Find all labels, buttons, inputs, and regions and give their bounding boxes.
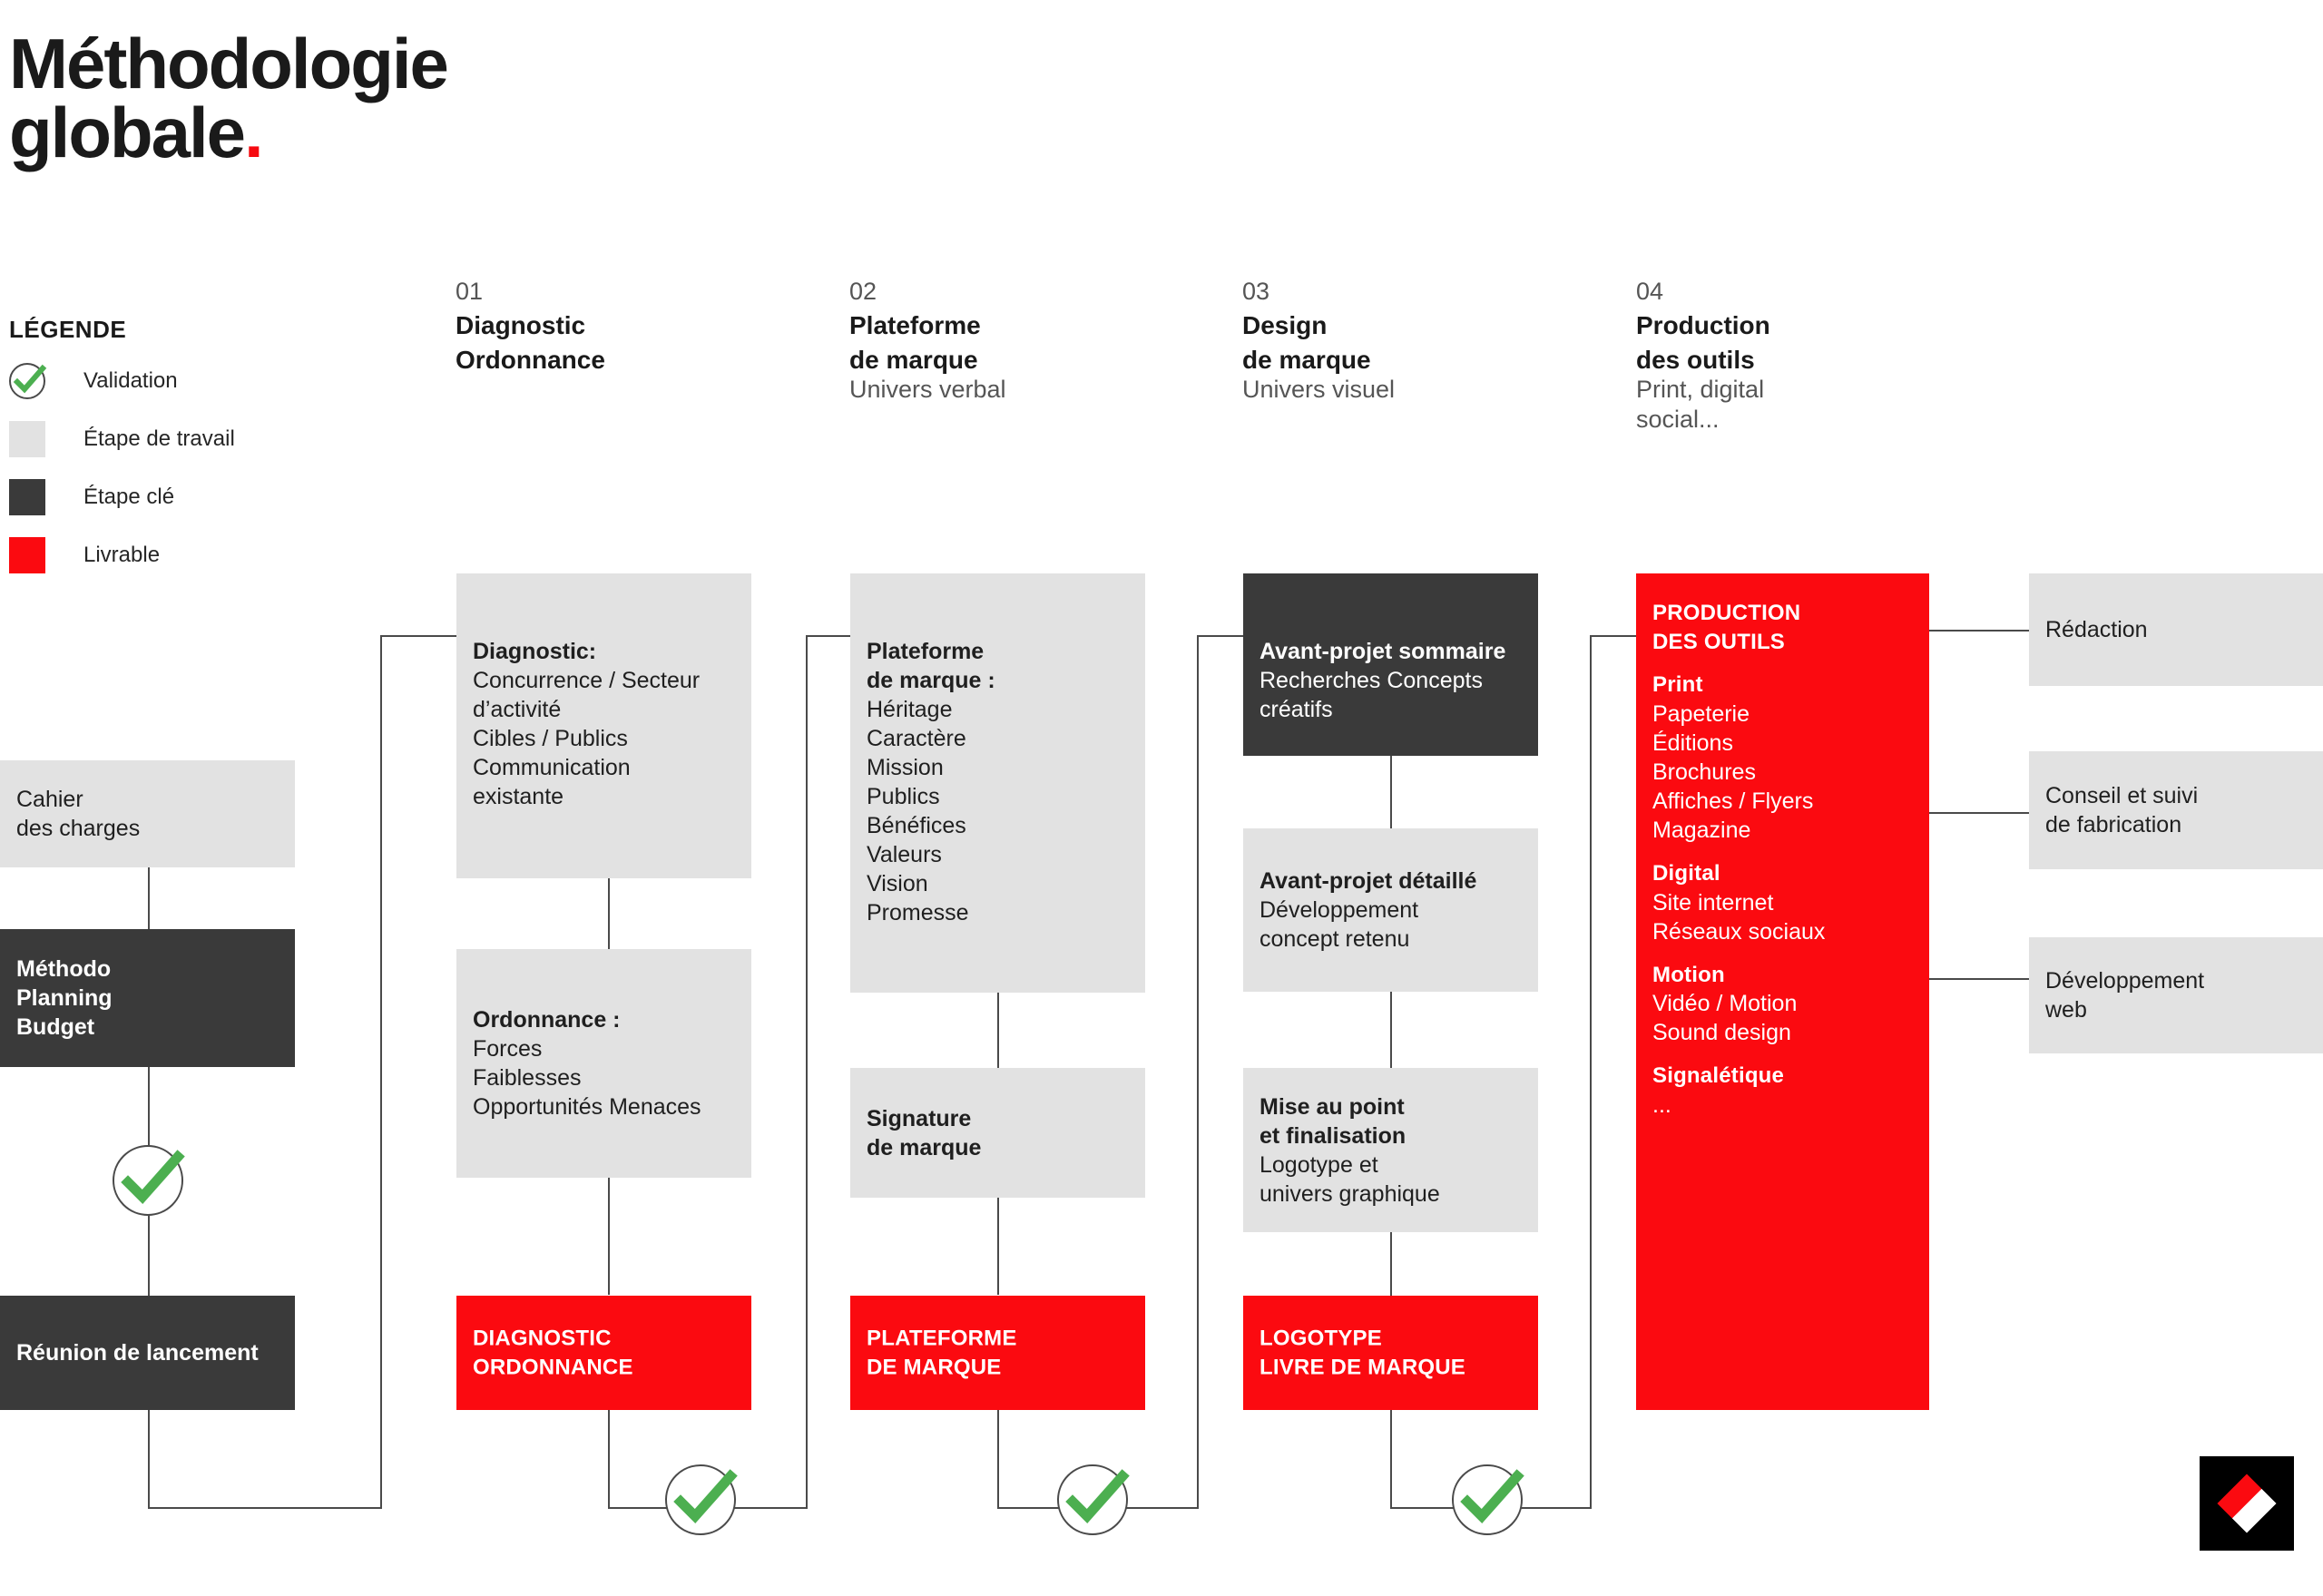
plateforme-line-1: Héritage <box>867 695 1129 724</box>
deliverable-col1-line-1: DIAGNOSTIC <box>473 1324 735 1353</box>
detaille-title: Avant-projet détaillé <box>1260 867 1522 896</box>
validation-check-icon-col1 <box>665 1464 736 1535</box>
ordonnance-line-3: Opportunités Menaces <box>473 1092 735 1121</box>
validation-check-icon-col2 <box>1057 1464 1128 1535</box>
signaletique-item-1: ... <box>1652 1091 1913 1120</box>
column-title-02-line1: Plateforme <box>849 310 1158 341</box>
plateforme-line-7: Vision <box>867 869 1129 898</box>
print-item-1: Papeterie <box>1652 700 1913 729</box>
box-signature-de-marque: Signature de marque <box>850 1068 1145 1198</box>
plateforme-line-6: Valeurs <box>867 840 1129 869</box>
digital-item-1: Site internet <box>1652 888 1913 917</box>
ordonnance-line-1: Forces <box>473 1034 735 1063</box>
finalisation-line-1: Logotype et <box>1260 1150 1522 1180</box>
production-group-print: Print Papeterie Éditions Brochures Affic… <box>1652 671 1913 845</box>
deliverable-col2-line-1: PLATEFORME <box>867 1324 1129 1353</box>
developpement-line-2: web <box>2045 995 2308 1024</box>
box-avant-projet-sommaire: Avant-projet sommaire Recherches Concept… <box>1243 573 1538 756</box>
deliverable-col1-line-2: ORDONNANCE <box>473 1353 735 1382</box>
column-header-02: 02 Plateforme de marque Univers verbal <box>849 277 1158 405</box>
cahier-line-1: Cahier <box>16 785 279 814</box>
production-group-motion: Motion Vidéo / Motion Sound design <box>1652 961 1913 1048</box>
finalisation-title-line-2: et finalisation <box>1260 1121 1522 1150</box>
brand-logo <box>2200 1456 2294 1551</box>
print-item-4: Affiches / Flyers <box>1652 787 1913 816</box>
column-title-04-line1: Production <box>1636 310 1945 341</box>
developpement-line-1: Développement <box>2045 966 2308 995</box>
motion-item-1: Vidéo / Motion <box>1652 989 1913 1018</box>
legend-item-key-step: Étape clé <box>9 476 309 518</box>
legend-item-work-step: Étape de travail <box>9 418 309 460</box>
box-production-des-outils: PRODUCTION DES OUTILS Print Papeterie Éd… <box>1636 573 1929 1410</box>
column-subtitle-04-line2: social... <box>1636 405 1945 434</box>
box-ordonnance: Ordonnance : Forces Faiblesses Opportuni… <box>456 949 751 1178</box>
finalisation-line-2: univers graphique <box>1260 1180 1522 1209</box>
legend-item-deliverable: Livrable <box>9 534 309 576</box>
column-title-03-line2: de marque <box>1242 345 1551 376</box>
column-header-03: 03 Design de marque Univers visuel <box>1242 277 1551 405</box>
motion-item-2: Sound design <box>1652 1018 1913 1047</box>
diagnostic-line-4: Communication <box>473 753 735 782</box>
box-deliverable-diagnostic-ordonnance: DIAGNOSTIC ORDONNANCE <box>456 1296 751 1410</box>
connector-signature-to-deliverable <box>997 1198 999 1295</box>
production-heading-motion: Motion <box>1652 961 1913 990</box>
box-mise-au-point-et-finalisation: Mise au point et finalisation Logotype e… <box>1243 1068 1538 1232</box>
connector-finalisation-to-deliverable <box>1390 1232 1392 1296</box>
box-developpement-web: Développement web <box>2029 937 2323 1053</box>
title-accent-dot: . <box>244 93 262 172</box>
plateforme-title-line-1: Plateforme <box>867 637 1129 666</box>
box-methodo-planning-budget: Méthodo Planning Budget <box>0 929 295 1067</box>
connector-plateforme-to-signature <box>997 992 999 1068</box>
connector-production-to-conseil <box>1929 812 2029 814</box>
legend: LÉGENDE Validation Étape de travail Étap… <box>9 316 309 576</box>
box-diagnostic: Diagnostic: Concurrence / Secteur d’acti… <box>456 573 751 878</box>
work-step-swatch <box>9 421 45 457</box>
digital-item-2: Réseaux sociaux <box>1652 917 1913 946</box>
plateforme-line-2: Caractère <box>867 724 1129 753</box>
sommaire-line-1: Recherches Concepts <box>1260 666 1522 695</box>
reunion-line-1: Réunion de lancement <box>16 1338 279 1367</box>
production-title-line-2: DES OUTILS <box>1652 628 1913 657</box>
title-line-2: globale <box>9 93 244 172</box>
diagnostic-line-2: d’activité <box>473 695 735 724</box>
box-deliverable-logotype-livre-de-marque: LOGOTYPE LIVRE DE MARQUE <box>1243 1296 1538 1410</box>
column-number-04: 04 <box>1636 277 1945 307</box>
validation-check-icon-col3 <box>1452 1464 1523 1535</box>
box-deliverable-plateforme-de-marque: PLATEFORME DE MARQUE <box>850 1296 1145 1410</box>
connector-col1-riser <box>806 635 808 1508</box>
signature-line-1: Signature <box>867 1104 1129 1133</box>
diagnostic-line-3: Cibles / Publics <box>473 724 735 753</box>
plateforme-line-3: Mission <box>867 753 1129 782</box>
column-title-02-line2: de marque <box>849 345 1158 376</box>
legend-label-key-step: Étape clé <box>83 485 174 510</box>
column-header-04: 04 Production des outils Print, digital … <box>1636 277 1945 434</box>
conseil-line-2: de fabrication <box>2045 810 2308 839</box>
connector-production-to-developpement <box>1929 978 2029 980</box>
connector-col3-riser <box>1590 635 1592 1508</box>
plateforme-line-4: Publics <box>867 782 1129 811</box>
methodo-line-2: Planning <box>16 984 279 1013</box>
connector-detaille-to-finalisation <box>1390 992 1392 1068</box>
connector-col3-to-col4 <box>1590 635 1637 637</box>
production-title-line-1: PRODUCTION <box>1652 599 1913 628</box>
connector-col1-down <box>608 1409 610 1509</box>
box-conseil-et-suivi-de-fabrication: Conseil et suivi de fabrication <box>2029 751 2323 869</box>
column-title-01-line1: Diagnostic <box>456 310 764 341</box>
finalisation-title-line-1: Mise au point <box>1260 1092 1522 1121</box>
connector-diagnostic-to-ordonnance <box>608 877 610 950</box>
connector-col3-down <box>1390 1409 1392 1509</box>
ordonnance-line-2: Faiblesses <box>473 1063 735 1092</box>
plateforme-line-8: Promesse <box>867 898 1129 927</box>
column-number-01: 01 <box>456 277 764 307</box>
redaction-line-1: Rédaction <box>2045 615 2308 644</box>
box-plateforme-de-marque: Plateforme de marque : Héritage Caractèr… <box>850 573 1145 993</box>
production-heading-print: Print <box>1652 671 1913 700</box>
connector-ordonnance-to-deliverable <box>608 1177 610 1295</box>
connector-col2-riser <box>1197 635 1199 1508</box>
connector-methodo-to-check <box>148 1066 150 1152</box>
detaille-line-1: Développement <box>1260 896 1522 925</box>
deliverable-swatch <box>9 537 45 573</box>
connector-col2-to-col3 <box>1197 635 1244 637</box>
ordonnance-title: Ordonnance : <box>473 1005 735 1034</box>
production-group-signaletique: Signalétique ... <box>1652 1062 1913 1120</box>
diagnostic-line-1: Concurrence / Secteur <box>473 666 735 695</box>
column-number-03: 03 <box>1242 277 1551 307</box>
production-group-digital: Digital Site internet Réseaux sociaux <box>1652 859 1913 946</box>
title-line-1: Méthodologie <box>9 24 447 103</box>
legend-item-validation: Validation <box>9 360 309 402</box>
plateforme-title-line-2: de marque : <box>867 666 1129 695</box>
check-circle-icon <box>9 363 45 399</box>
methodology-diagram: Méthodologie globale. LÉGENDE Validation… <box>0 0 2323 1596</box>
column-header-01: 01 Diagnostic Ordonnance <box>456 277 764 375</box>
print-item-2: Éditions <box>1652 729 1913 758</box>
sommaire-line-2: créatifs <box>1260 695 1522 724</box>
cahier-line-2: des charges <box>16 814 279 843</box>
legend-label-validation: Validation <box>83 368 178 394</box>
connector-col0-bottom-right <box>148 1507 382 1509</box>
deliverable-col3-line-2: LIVRE DE MARQUE <box>1260 1353 1522 1382</box>
validation-check-icon-col0 <box>113 1145 183 1216</box>
sommaire-title: Avant-projet sommaire <box>1260 637 1522 666</box>
connector-sommaire-to-detaille <box>1390 756 1392 828</box>
column-number-02: 02 <box>849 277 1158 307</box>
box-avant-projet-detaille: Avant-projet détaillé Développement conc… <box>1243 828 1538 992</box>
methodo-line-1: Méthodo <box>16 955 279 984</box>
legend-heading: LÉGENDE <box>9 316 309 344</box>
deliverable-col3-line-1: LOGOTYPE <box>1260 1324 1522 1353</box>
diamond-icon <box>2217 1474 2276 1532</box>
diagnostic-title: Diagnostic: <box>473 637 735 666</box>
connector-reunion-down <box>148 1409 150 1509</box>
box-reunion-de-lancement: Réunion de lancement <box>0 1296 295 1410</box>
deliverable-col2-line-2: DE MARQUE <box>867 1353 1129 1382</box>
column-title-01-line2: Ordonnance <box>456 345 764 376</box>
connector-col2-down <box>997 1409 999 1509</box>
page-title: Méthodologie globale. <box>9 29 447 168</box>
legend-label-work-step: Étape de travail <box>83 426 235 452</box>
column-subtitle-04-line1: Print, digital <box>1636 375 1945 404</box>
plateforme-line-5: Bénéfices <box>867 811 1129 840</box>
connector-col0-to-col1 <box>380 635 457 637</box>
key-step-swatch <box>9 479 45 515</box>
box-cahier-des-charges: Cahier des charges <box>0 760 295 867</box>
connector-col0-riser <box>380 635 382 1508</box>
production-heading-digital: Digital <box>1652 859 1913 888</box>
column-title-03-line1: Design <box>1242 310 1551 341</box>
legend-label-deliverable: Livrable <box>83 543 160 568</box>
column-subtitle-03: Univers visuel <box>1242 375 1551 404</box>
methodo-line-3: Budget <box>16 1013 279 1042</box>
box-redaction: Rédaction <box>2029 573 2323 686</box>
conseil-line-1: Conseil et suivi <box>2045 781 2308 810</box>
print-item-5: Magazine <box>1652 816 1913 845</box>
diagnostic-line-5: existante <box>473 782 735 811</box>
column-title-04-line2: des outils <box>1636 345 1945 376</box>
connector-production-to-redaction <box>1929 630 2029 632</box>
column-subtitle-02: Univers verbal <box>849 375 1158 404</box>
signature-line-2: de marque <box>867 1133 1129 1162</box>
detaille-line-2: concept retenu <box>1260 925 1522 954</box>
print-item-3: Brochures <box>1652 758 1913 787</box>
production-heading-signaletique: Signalétique <box>1652 1062 1913 1091</box>
